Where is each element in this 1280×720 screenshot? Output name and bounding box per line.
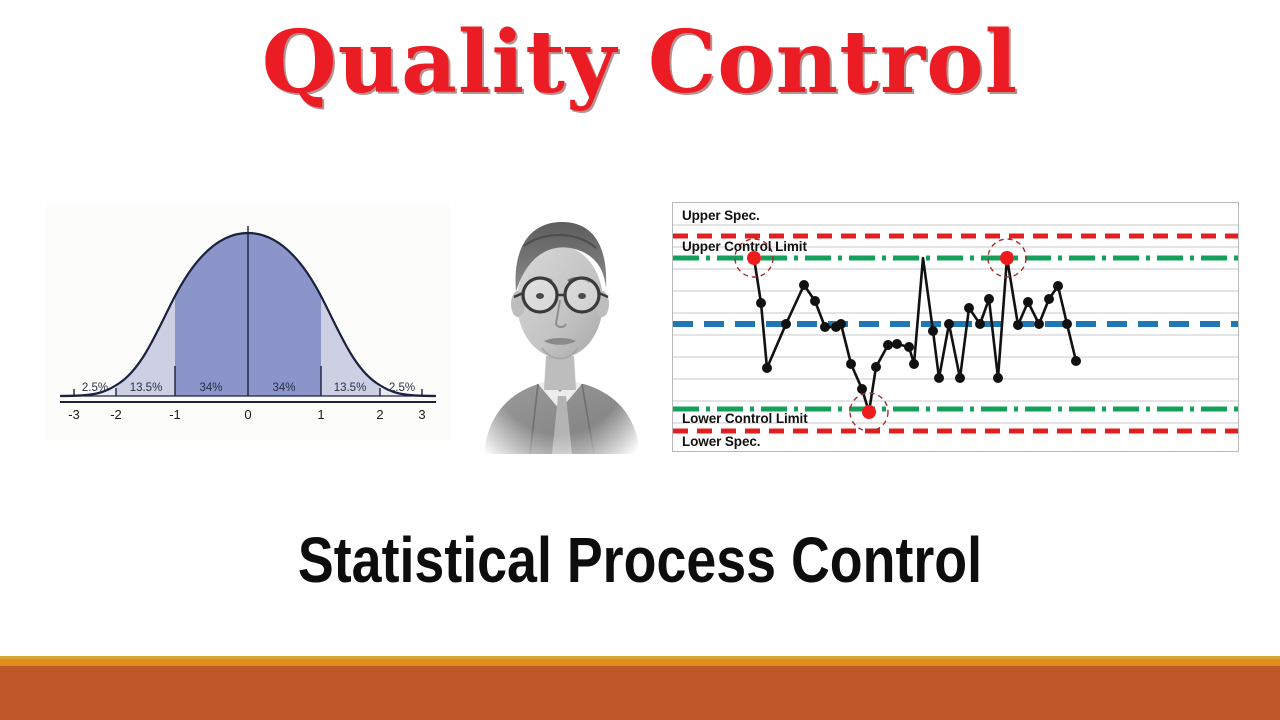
out-of-control-point [862,405,876,419]
band-outer-right [380,223,450,403]
page-subtitle: Statistical Process Control [102,527,1177,594]
axis-tick: 3 [418,407,425,422]
axis-tick: -3 [68,407,80,422]
portrait-svg [472,196,647,454]
out-of-control-point [1000,251,1014,265]
band-outer-left [46,223,116,403]
bell-curve-svg: 2.5% 13.5% 34% 34% 13.5% 2.5% -3 -2 -1 0… [46,203,450,440]
page-title: Quality Control [0,18,1280,108]
region-label: 34% [199,382,222,394]
lower-spec-label: Lower Spec. [682,434,760,449]
region-label: 2.5% [82,382,108,394]
axis-tick: 1 [317,407,324,422]
accent-band-rust [0,666,1280,720]
lower-control-limit-label: Lower Control Limit [682,411,808,426]
accent-band-gold [0,659,1280,666]
region-label: 13.5% [130,382,163,394]
region-label: 2.5% [389,382,415,394]
bell-curve-axis-ticks: -3 -2 -1 0 1 2 3 [68,407,425,422]
band-center-left [175,223,248,403]
axis-tick: -2 [110,407,122,422]
band-center-right [248,223,321,403]
portrait-vignette [472,196,647,454]
region-label: 34% [272,382,295,394]
axis-tick: 2 [376,407,383,422]
normal-distribution-figure: 2.5% 13.5% 34% 34% 13.5% 2.5% -3 -2 -1 0… [46,203,450,440]
upper-control-limit-label: Upper Control Limit [682,239,807,254]
control-chart-figure: Upper Spec. Upper Control Limit Lower Co… [672,202,1239,452]
axis-tick: 0 [244,407,251,422]
axis-tick: -1 [169,407,181,422]
upper-spec-label: Upper Spec. [682,208,760,223]
bell-curve-dividers [74,226,422,396]
region-label: 13.5% [334,382,367,394]
portrait-image [472,196,647,454]
